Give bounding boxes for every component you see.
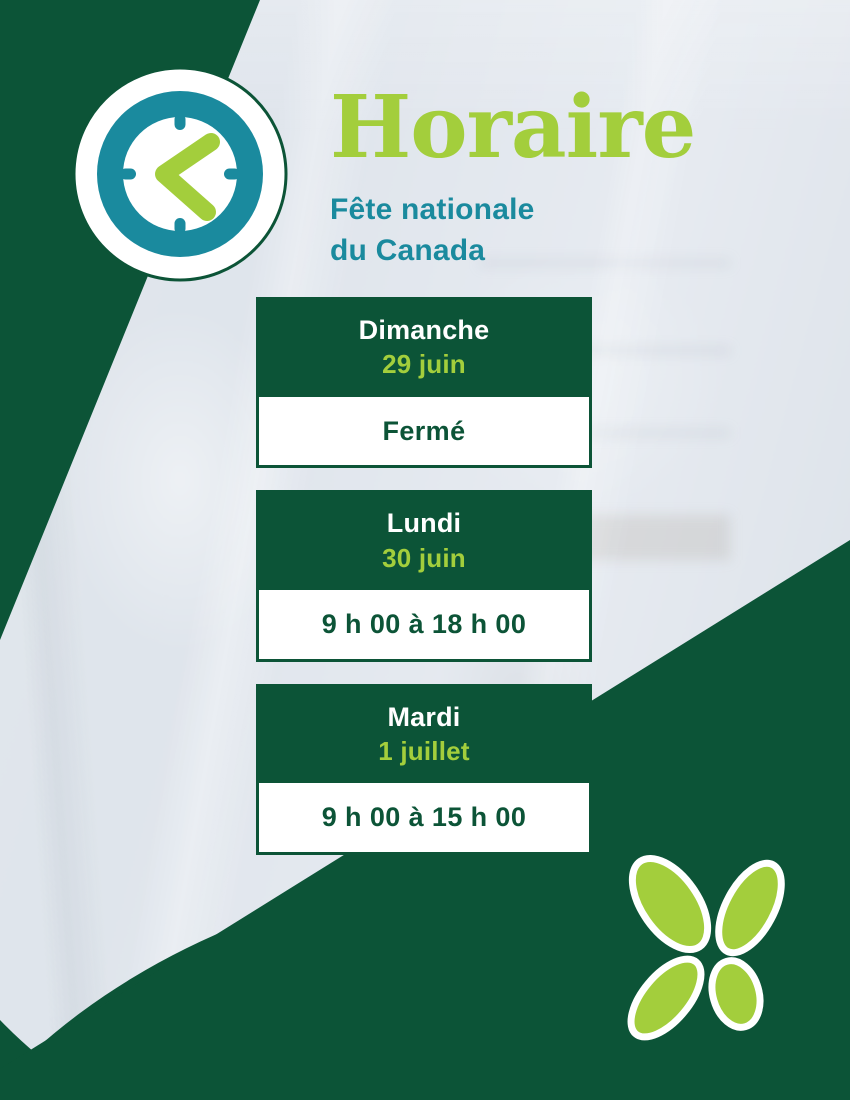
subtitle-line-1: Fête nationale [330,190,660,231]
schedule-card: Mardi 1 juillet 9 h 00 à 15 h 00 [256,684,592,855]
schedule-hours-label: Fermé [269,415,579,447]
schedule-hours-label: 9 h 00 à 15 h 00 [269,801,579,833]
clock-icon [72,66,288,282]
schedule-hours-label: 9 h 00 à 18 h 00 [269,608,579,640]
schedule-day-label: Dimanche [266,314,582,346]
schedule-card-body: 9 h 00 à 15 h 00 [256,783,592,854]
schedule-date-label: 30 juin [266,542,582,575]
schedule-date-label: 29 juin [266,348,582,381]
poster-canvas: Horaire Fête nationale du Canada Dimanch… [0,0,850,1100]
schedule-card-header: Lundi 30 juin [256,490,592,590]
butterfly-flower-logo-icon [612,852,812,1058]
subtitle-line-2: du Canada [330,231,660,272]
schedule-list: Dimanche 29 juin Fermé Lundi 30 juin 9 h… [256,297,592,877]
page-title: Horaire [330,86,695,170]
schedule-card-body: 9 h 00 à 18 h 00 [256,590,592,661]
schedule-day-label: Mardi [266,701,582,733]
schedule-card-header: Dimanche 29 juin [256,297,592,397]
schedule-card: Dimanche 29 juin Fermé [256,297,592,468]
schedule-card-body: Fermé [256,397,592,468]
schedule-day-label: Lundi [266,507,582,539]
page-subtitle: Fête nationale du Canada [330,190,660,271]
schedule-date-label: 1 juillet [266,735,582,768]
schedule-card-header: Mardi 1 juillet [256,684,592,784]
schedule-card: Lundi 30 juin 9 h 00 à 18 h 00 [256,490,592,661]
